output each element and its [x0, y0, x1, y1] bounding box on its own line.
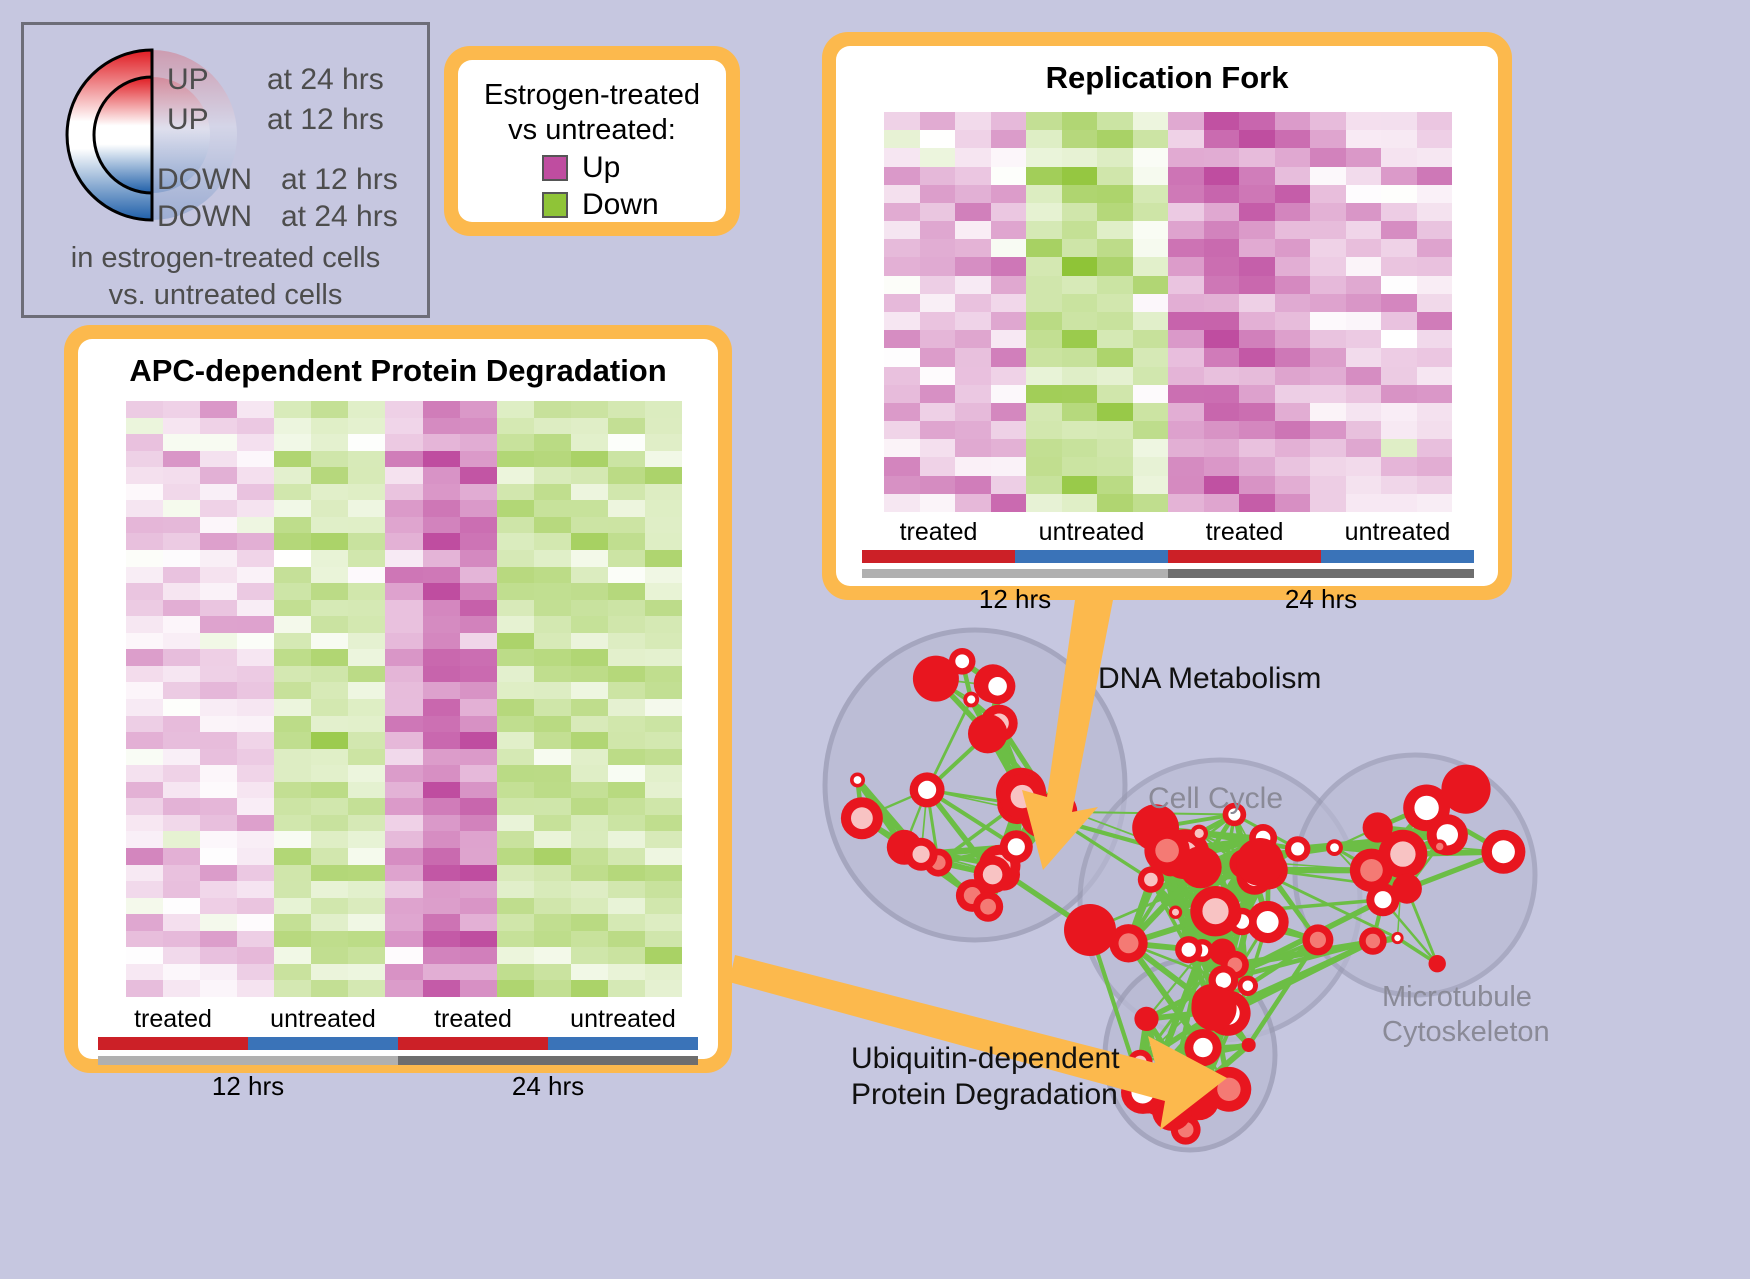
heatmap-cell: [1310, 294, 1346, 312]
network-node[interactable]: [1429, 955, 1446, 972]
heatmap-cell: [348, 616, 385, 633]
heatmap-cell: [1026, 439, 1062, 457]
heatmap-cell: [200, 533, 237, 550]
network-node[interactable]: [1302, 924, 1333, 955]
heatmap-cell: [1168, 185, 1204, 203]
heatmap-group-label: treated: [1168, 518, 1321, 547]
heatmap-cell: [1168, 439, 1204, 457]
heatmap-cell: [1062, 112, 1098, 130]
heatmap-cell: [1133, 421, 1169, 439]
updown-legend-inner: Estrogen-treated vs untreated: Up Down: [458, 60, 726, 222]
heatmap-cell: [126, 434, 163, 451]
network-node[interactable]: [1392, 874, 1422, 904]
heatmap-cell: [645, 467, 682, 484]
heatmap-cell: [423, 964, 460, 981]
heatmap-cell: [348, 583, 385, 600]
network-node[interactable]: [1363, 812, 1393, 842]
heatmap-cell: [274, 550, 311, 567]
heatmap-cell: [920, 239, 956, 257]
heatmap-cell: [1417, 257, 1453, 275]
heatmap-cell: [571, 583, 608, 600]
heatmap-group-label: untreated: [1321, 518, 1474, 547]
heatmap-cell: [163, 583, 200, 600]
network-node[interactable]: [1242, 1038, 1256, 1052]
heatmap-cell: [571, 616, 608, 633]
heatmap-cell: [163, 765, 200, 782]
heatmap-cell: [608, 649, 645, 666]
network-node[interactable]: [1433, 839, 1447, 853]
heatmap-cell: [497, 666, 534, 683]
heatmap-cell: [1133, 367, 1169, 385]
heatmap-cell: [571, 451, 608, 468]
heatmap-cell: [1168, 367, 1204, 385]
heatmap-cell: [311, 682, 348, 699]
heatmap-cell: [1381, 494, 1417, 512]
heatmap-cell: [991, 167, 1027, 185]
heatmap-cell: [126, 600, 163, 617]
heatmap-cell: [274, 401, 311, 418]
heatmap-cell: [311, 699, 348, 716]
heatmap-cell: [237, 848, 274, 865]
network-node[interactable]: [1144, 828, 1189, 873]
heatmap-cell: [1168, 403, 1204, 421]
heatmap-cell: [311, 517, 348, 534]
heatmap-cell: [1417, 439, 1453, 457]
heatmap-cell: [608, 401, 645, 418]
heatmap-cell: [311, 914, 348, 931]
heatmap-cell: [1062, 148, 1098, 166]
heatmap-cell: [200, 716, 237, 733]
heatmap-cell: [1133, 276, 1169, 294]
heatmap-cell: [1275, 476, 1311, 494]
heatmap-cell: [1097, 276, 1133, 294]
heatmap-cell: [534, 451, 571, 468]
heatmap-cell: [571, 881, 608, 898]
heatmap-cell: [460, 699, 497, 716]
network-node[interactable]: [1169, 906, 1182, 919]
heatmap-cell: [460, 451, 497, 468]
cluster-label-ubiquitin-degradation: Ubiquitin-dependent Protein Degradation: [851, 1041, 1120, 1113]
heatmap-cell: [1346, 257, 1382, 275]
key-direction-0: UP: [167, 63, 209, 97]
heatmap-cell: [163, 749, 200, 766]
heatmap-cell: [497, 550, 534, 567]
network-node[interactable]: [1326, 839, 1343, 856]
heatmap-cell: [991, 403, 1027, 421]
heatmap-cell: [1062, 348, 1098, 366]
heatmap-cell: [163, 633, 200, 650]
heatmap-cell: [884, 148, 920, 166]
heatmap-cell: [534, 980, 571, 997]
heatmap-cell: [1062, 421, 1098, 439]
heatmap-cell: [497, 898, 534, 915]
heatmap-cell: [1097, 348, 1133, 366]
heatmap-cell: [645, 633, 682, 650]
heatmap-cell: [1310, 257, 1346, 275]
heatmap-cell: [991, 148, 1027, 166]
heatmap-cell: [1310, 148, 1346, 166]
heatmap-cell: [200, 865, 237, 882]
heatmap-group-label: untreated: [548, 1005, 698, 1034]
heatmap-cell: [1239, 112, 1275, 130]
network-node[interactable]: [1191, 986, 1236, 1031]
heatmap-cell: [645, 533, 682, 550]
heatmap-cell: [237, 467, 274, 484]
heatmap-cell: [423, 616, 460, 633]
heatmap-cell: [1168, 167, 1204, 185]
heatmap-cell: [163, 500, 200, 517]
heatmap-cell: [1346, 239, 1382, 257]
heatmap-cell: [274, 947, 311, 964]
heatmap-cell: [571, 914, 608, 931]
heatmap-cell: [884, 130, 920, 148]
network-node[interactable]: [1036, 791, 1077, 832]
network-node[interactable]: [1190, 825, 1208, 843]
heatmap-cell: [460, 600, 497, 617]
heatmap-cell: [1026, 112, 1062, 130]
heatmap-cell: [237, 583, 274, 600]
network-node[interactable]: [850, 773, 865, 788]
heatmap-cell: [1346, 421, 1382, 439]
heatmap-cell: [1239, 312, 1275, 330]
heatmap-cell: [163, 898, 200, 915]
key-time-1: at 12 hrs: [267, 103, 384, 137]
heatmap-cell: [571, 467, 608, 484]
heatmap-cell: [274, 848, 311, 865]
heatmap-cell: [163, 964, 200, 981]
heatmap-cell: [955, 385, 991, 403]
heatmap-cell: [534, 881, 571, 898]
heatmap-cell: [126, 517, 163, 534]
network-node[interactable]: [963, 692, 979, 708]
heatmap-cell: [200, 401, 237, 418]
heatmap-cell: [348, 964, 385, 981]
heatmap-cell: [884, 276, 920, 294]
heatmap-cell: [460, 401, 497, 418]
heatmap-cell: [385, 732, 422, 749]
heatmap-cell: [955, 167, 991, 185]
heatmap-cell: [571, 765, 608, 782]
heatmap-cell: [645, 451, 682, 468]
heatmap-cell: [237, 666, 274, 683]
heatmap-cell: [1204, 367, 1240, 385]
heatmap-cell: [991, 203, 1027, 221]
legend-label-up: Up: [582, 151, 620, 185]
heatmap-cell: [1346, 185, 1382, 203]
heatmap-cell: [1204, 330, 1240, 348]
heatmap-cell: [608, 467, 645, 484]
heatmap-cell: [497, 947, 534, 964]
heatmap-cell: [884, 185, 920, 203]
heatmap-cell: [1133, 112, 1169, 130]
heatmap-cell: [955, 476, 991, 494]
heatmap-cell: [608, 567, 645, 584]
heatmap-cell: [1275, 185, 1311, 203]
network-node[interactable]: [1359, 927, 1387, 955]
heatmap-cell: [991, 385, 1027, 403]
heatmap-cell: [311, 500, 348, 517]
heatmap-cell: [126, 583, 163, 600]
heatmap-cell: [534, 467, 571, 484]
network-node[interactable]: [1000, 830, 1033, 863]
heatmap-cell: [1346, 221, 1382, 239]
heatmap-cell: [1381, 330, 1417, 348]
heatmap-cell: [1097, 203, 1133, 221]
heatmap-cell: [497, 600, 534, 617]
heatmap-cell: [920, 257, 956, 275]
heatmap-cell: [237, 898, 274, 915]
heatmap-cell: [1168, 494, 1204, 512]
heatmap-cell: [645, 550, 682, 567]
heatmap-cell: [497, 401, 534, 418]
heatmap-cell: [200, 699, 237, 716]
network-node[interactable]: [1128, 1050, 1153, 1075]
heatmap-cell: [423, 765, 460, 782]
heatmap-cell: [1275, 367, 1311, 385]
apc-group-bars: [98, 1037, 698, 1050]
heatmap-cell: [1133, 185, 1169, 203]
heatmap-cell: [237, 980, 274, 997]
heatmap-cell: [237, 451, 274, 468]
heatmap-cell: [608, 716, 645, 733]
heatmap-cell: [497, 831, 534, 848]
heatmap-cell: [200, 633, 237, 650]
heatmap-cell: [571, 798, 608, 815]
heatmap-cell: [1417, 385, 1453, 403]
heatmap-cell: [385, 980, 422, 997]
heatmap-cell: [163, 831, 200, 848]
cluster-label-dna-metabolism: DNA Metabolism: [1098, 662, 1321, 696]
heatmap-cell: [1239, 203, 1275, 221]
network-node[interactable]: [841, 797, 883, 839]
heatmap-cell: [1310, 276, 1346, 294]
heatmap-cell: [237, 931, 274, 948]
network-node[interactable]: [1427, 814, 1468, 855]
heatmap-cell: [1239, 239, 1275, 257]
heatmap-cell: [385, 782, 422, 799]
heatmap-cell: [1097, 112, 1133, 130]
heatmap-time-bar: [862, 569, 1168, 578]
heatmap-cell: [497, 533, 534, 550]
heatmap-cell: [274, 716, 311, 733]
heatmap-cell: [1239, 494, 1275, 512]
heatmap-cell: [1168, 385, 1204, 403]
heatmap-cell: [1204, 276, 1240, 294]
heatmap-cell: [163, 649, 200, 666]
heatmap-cell: [1381, 167, 1417, 185]
heatmap-cell: [571, 947, 608, 964]
heatmap-cell: [991, 421, 1027, 439]
network-node[interactable]: [1064, 904, 1116, 956]
heatmap-cell: [311, 484, 348, 501]
heatmap-cell: [497, 765, 534, 782]
heatmap-cell: [608, 914, 645, 931]
heatmap-cell: [348, 600, 385, 617]
heatmap-cell: [955, 130, 991, 148]
heatmap-cell: [1026, 421, 1062, 439]
heatmap-cell: [955, 439, 991, 457]
network-node[interactable]: [1121, 1071, 1164, 1114]
heatmap-cell: [237, 964, 274, 981]
key-direction-2: DOWN: [157, 163, 252, 197]
network-node[interactable]: [1184, 1029, 1221, 1066]
heatmap-cell: [955, 294, 991, 312]
heatmap-cell: [608, 533, 645, 550]
heatmap-cell: [274, 782, 311, 799]
heatmap-cell: [423, 914, 460, 931]
heatmap-cell: [385, 798, 422, 815]
heatmap-cell: [1310, 476, 1346, 494]
heatmap-cell: [608, 600, 645, 617]
heatmap-cell: [237, 434, 274, 451]
heatmap-cell: [497, 798, 534, 815]
heatmap-cell: [1346, 148, 1382, 166]
heatmap-cell: [497, 980, 534, 997]
heatmap-cell: [1381, 312, 1417, 330]
heatmap-cell: [237, 401, 274, 418]
heatmap-cell: [1133, 330, 1169, 348]
heatmap-cell: [534, 517, 571, 534]
network-node[interactable]: [1391, 932, 1403, 944]
network-node[interactable]: [1190, 886, 1240, 936]
network-node[interactable]: [905, 838, 938, 871]
heatmap-cell: [126, 616, 163, 633]
heatmap-cell: [1133, 439, 1169, 457]
heatmap-cell: [1417, 312, 1453, 330]
network-node[interactable]: [910, 772, 945, 807]
heatmap-cell: [991, 348, 1027, 366]
heatmap-cell: [1310, 221, 1346, 239]
network-node[interactable]: [1134, 1007, 1158, 1031]
heatmap-cell: [955, 257, 991, 275]
heatmap-cell: [126, 567, 163, 584]
heatmap-cell: [200, 765, 237, 782]
heatmap-cell: [1168, 421, 1204, 439]
network-node[interactable]: [980, 669, 1016, 705]
legend-title: Estrogen-treated vs untreated:: [458, 78, 726, 148]
heatmap-cell: [1168, 457, 1204, 475]
heatmap-cell: [237, 947, 274, 964]
heatmap-cell: [608, 848, 645, 865]
heatmap-time-label: 12 hrs: [98, 1071, 398, 1102]
heatmap-cell: [1346, 385, 1382, 403]
heatmap-cell: [1062, 167, 1098, 185]
heatmap-cell: [237, 765, 274, 782]
heatmap-cell: [423, 716, 460, 733]
heatmap-cell: [126, 732, 163, 749]
heatmap-cell: [1310, 130, 1346, 148]
heatmap-cell: [385, 616, 422, 633]
network-node[interactable]: [1207, 1067, 1252, 1112]
cluster-label-microtubule-cytoskeleton: Microtubule Cytoskeleton: [1382, 980, 1550, 1050]
heatmap-cell: [991, 312, 1027, 330]
heatmap-cell: [423, 682, 460, 699]
heatmap-cell: [385, 666, 422, 683]
heatmap-cell: [1275, 348, 1311, 366]
network-node[interactable]: [1441, 765, 1490, 814]
heatmap-cell: [534, 865, 571, 882]
heatmap-cell: [163, 947, 200, 964]
heatmap-cell: [645, 831, 682, 848]
heatmap-cell: [460, 533, 497, 550]
heatmap-cell: [497, 418, 534, 435]
replication-fork-heatmap: [884, 112, 1452, 512]
heatmap-cell: [1381, 203, 1417, 221]
heatmap-cell: [534, 550, 571, 567]
network-node[interactable]: [974, 856, 1012, 894]
heatmap-cell: [1239, 457, 1275, 475]
heatmap-time-bar: [1168, 569, 1474, 578]
heatmap-cell: [1346, 367, 1382, 385]
network-node[interactable]: [968, 714, 1007, 753]
network-node[interactable]: [973, 892, 1003, 922]
heatmap-cell: [645, 716, 682, 733]
network-node[interactable]: [1350, 849, 1393, 892]
heatmap-cell: [534, 947, 571, 964]
heatmap-cell: [163, 451, 200, 468]
heatmap-cell: [163, 600, 200, 617]
heatmap-cell: [274, 633, 311, 650]
heatmap-cell: [163, 666, 200, 683]
network-node[interactable]: [1238, 976, 1258, 996]
heatmap-cell: [200, 600, 237, 617]
heatmap-cell: [1310, 421, 1346, 439]
heatmap-cell: [348, 434, 385, 451]
heatmap-cell: [1097, 130, 1133, 148]
heatmap-group-bar: [98, 1037, 248, 1050]
heatmap-cell: [645, 881, 682, 898]
heatmap-cell: [1239, 348, 1275, 366]
heatmap-cell: [237, 649, 274, 666]
heatmap-cell: [1417, 494, 1453, 512]
heatmap-cell: [237, 881, 274, 898]
network-node[interactable]: [1481, 830, 1525, 874]
heatmap-cell: [884, 239, 920, 257]
network-node[interactable]: [949, 648, 976, 675]
replication-fork-title: Replication Fork: [836, 46, 1498, 96]
apc-group-labels: treateduntreatedtreateduntreated: [98, 1005, 698, 1034]
heatmap-cell: [1275, 130, 1311, 148]
heatmap-cell: [237, 616, 274, 633]
heatmap-cell: [311, 865, 348, 882]
heatmap-cell: [1346, 167, 1382, 185]
heatmap-cell: [497, 716, 534, 733]
heatmap-cell: [920, 476, 956, 494]
heatmap-cell: [955, 421, 991, 439]
heatmap-cell: [534, 831, 571, 848]
heatmap-cell: [1417, 148, 1453, 166]
heatmap-cell: [497, 682, 534, 699]
heatmap-cell: [423, 947, 460, 964]
heatmap-cell: [1097, 367, 1133, 385]
network-node[interactable]: [1285, 836, 1310, 861]
heatmap-cell: [1310, 185, 1346, 203]
heatmap-cell: [460, 765, 497, 782]
heatmap-cell: [423, 782, 460, 799]
heatmap-cell: [1204, 294, 1240, 312]
heatmap-cell: [1204, 348, 1240, 366]
heatmap-cell: [126, 765, 163, 782]
heatmap-cell: [920, 330, 956, 348]
key-footer-line1: in estrogen-treated cells: [24, 240, 427, 277]
heatmap-cell: [534, 533, 571, 550]
cluster-label-microtubule-line1: Microtubule: [1382, 980, 1550, 1015]
network-node[interactable]: [1236, 838, 1284, 886]
heatmap-cell: [608, 666, 645, 683]
heatmap-cell: [497, 699, 534, 716]
network-node[interactable]: [1175, 936, 1202, 963]
heatmap-cell: [200, 583, 237, 600]
